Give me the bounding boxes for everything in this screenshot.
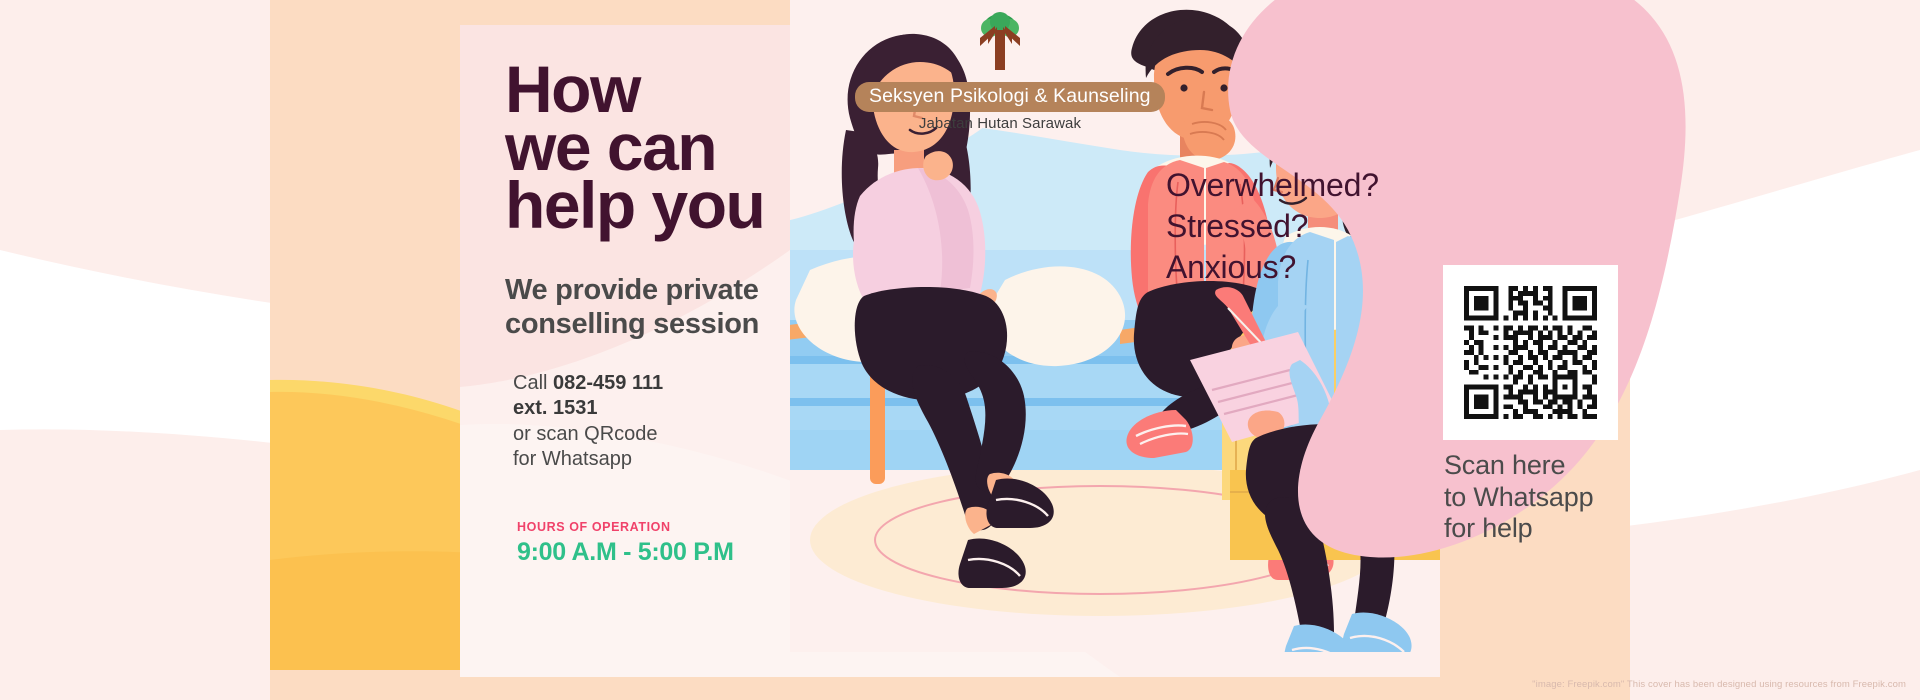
hours-block: HOURS OF OPERATION 9:00 A.M - 5:00 P.M: [517, 520, 845, 567]
page-title: How we can help you: [505, 60, 845, 234]
contact-block: Call 082-459 111 ext. 1531 or scan QRcod…: [513, 371, 845, 473]
headline-line-3: help you: [505, 176, 845, 234]
hours-label: HOURS OF OPERATION: [517, 520, 845, 534]
questions-block: Overwhelmed? Stressed? Anxious?: [1166, 165, 1379, 288]
hours-value: 9:00 A.M - 5:00 P.M: [517, 538, 845, 567]
scan-caption-line-3: for help: [1444, 513, 1593, 545]
qr-code-panel[interactable]: [1443, 265, 1618, 440]
scan-caption: Scan here to Whatsapp for help: [1444, 450, 1593, 545]
copy-column: How we can help you We provide private c…: [505, 60, 845, 567]
qr-instruction-line-1: or scan QRcode: [513, 422, 845, 447]
call-label: Call: [513, 372, 553, 394]
subheadline: We provide private conselling session: [505, 274, 815, 341]
phone-number[interactable]: 082-459 111: [553, 372, 663, 394]
scan-caption-line-1: Scan here: [1444, 450, 1593, 482]
subheadline-line-2: conselling session: [505, 308, 815, 341]
phone-line: Call 082-459 111: [513, 371, 845, 396]
scan-caption-line-2: to Whatsapp: [1444, 482, 1593, 514]
image-credit: "image: Freepik.com" This cover has been…: [1532, 679, 1906, 690]
logo-subtitle: Jabatan Hutan Sarawak: [855, 115, 1145, 132]
tree-icon: [964, 8, 1036, 80]
question-1: Overwhelmed?: [1166, 165, 1379, 206]
question-2: Stressed?: [1166, 206, 1379, 247]
subheadline-line-1: We provide private: [505, 274, 815, 307]
phone-extension: ext. 1531: [513, 396, 845, 421]
qr-code-icon[interactable]: [1459, 281, 1602, 424]
organisation-logo: Seksyen Psikologi & Kaunseling Jabatan H…: [855, 8, 1145, 132]
qr-instruction-line-2: for Whatsapp: [513, 447, 845, 472]
question-3: Anxious?: [1166, 247, 1379, 288]
poster-canvas: How we can help you We provide private c…: [0, 0, 1920, 700]
logo-title: Seksyen Psikologi & Kaunseling: [855, 82, 1165, 112]
